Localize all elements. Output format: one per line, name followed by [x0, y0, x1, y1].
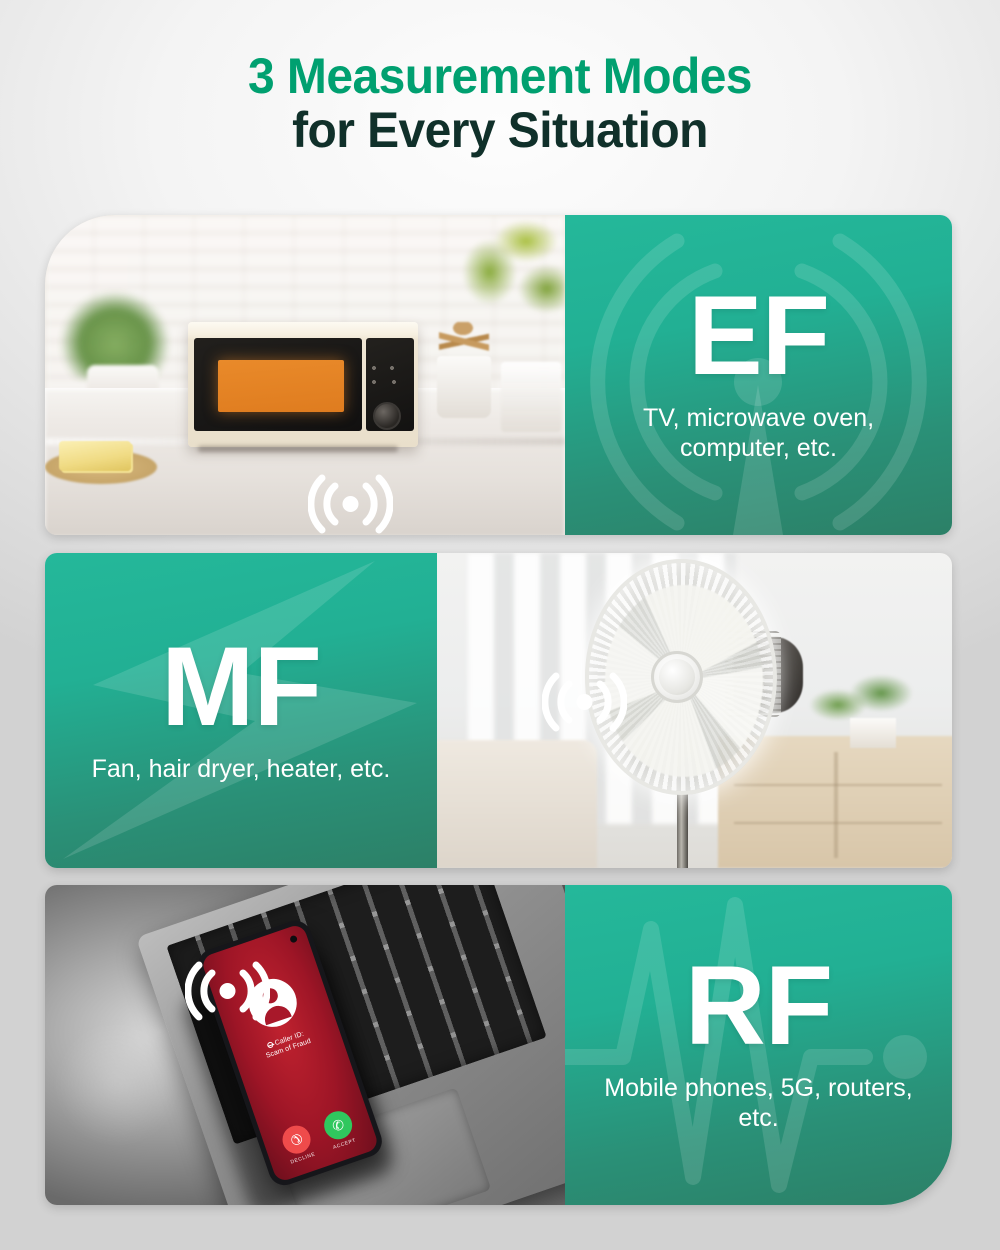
mode-code-ef: EF: [688, 286, 829, 387]
decline-call-button[interactable]: ✆ DECLINE: [279, 1122, 318, 1166]
mode-panel-rf: RF Mobile phones, 5G, routers, etc.: [565, 885, 952, 1205]
mode-code-rf: RF: [685, 956, 832, 1057]
signal-waves-icon: [542, 671, 627, 733]
mode-rows: EF TV, microwave oven, computer, etc. MF…: [0, 0, 1000, 1250]
mode-code-mf: MF: [161, 637, 321, 738]
mode-description-rf: Mobile phones, 5G, routers, etc.: [594, 1073, 924, 1134]
no-entry-icon: [266, 1041, 274, 1049]
accept-call-button[interactable]: ✆ ACCEPT: [320, 1107, 359, 1151]
photo-fan-room: [437, 553, 952, 868]
mode-card-rf: Caller ID: Scam of Fraud ✆ DECLINE ✆ ACC…: [45, 885, 952, 1205]
photo-phone-laptop: Caller ID: Scam of Fraud ✆ DECLINE ✆ ACC…: [45, 885, 565, 1205]
mode-panel-mf: MF Fan, hair dryer, heater, etc.: [45, 553, 437, 868]
photo-microwave-kitchen: [45, 215, 565, 535]
mode-panel-ef: EF TV, microwave oven, computer, etc.: [565, 215, 952, 535]
mode-card-mf: MF Fan, hair dryer, heater, etc.: [45, 553, 952, 868]
signal-waves-icon: [185, 960, 270, 1022]
mode-card-ef: EF TV, microwave oven, computer, etc.: [45, 215, 952, 535]
mode-description-ef: TV, microwave oven, computer, etc.: [594, 403, 924, 464]
signal-waves-icon: [308, 473, 393, 535]
mode-description-mf: Fan, hair dryer, heater, etc.: [92, 754, 391, 785]
